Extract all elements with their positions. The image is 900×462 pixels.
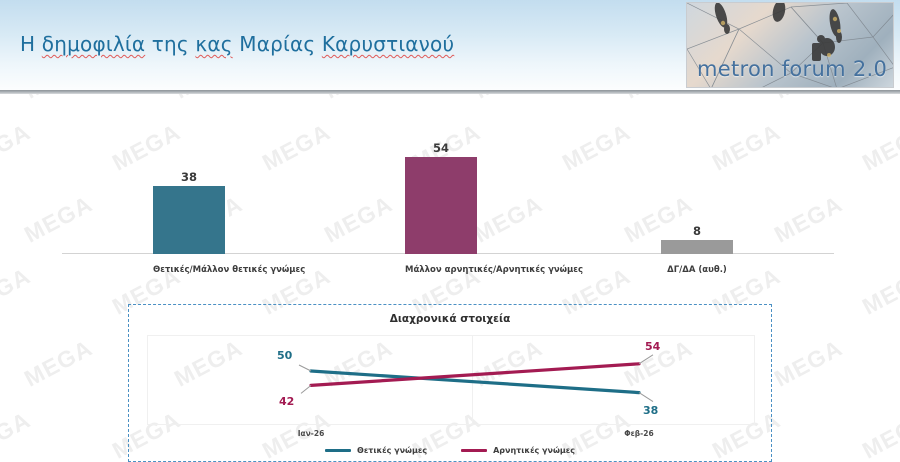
page-title-word-2: της <box>145 32 195 56</box>
watermark-text: MEGA <box>858 406 900 462</box>
legend-label-0: Θετικές γνώμες <box>357 446 427 455</box>
bar-value-label-0: 38 <box>153 170 225 184</box>
trend-xtick-1: Φεβ-26 <box>624 429 653 438</box>
bar-category-label-1: Μάλλον αρνητικές/Αρνητικές γνώμες <box>405 265 477 275</box>
header-divider <box>0 90 900 94</box>
watermark-text: MEGA <box>20 334 97 392</box>
legend-label-1: Αρνητικές γνώμες <box>493 446 575 455</box>
bar-group-2[interactable]: 8ΔΓ/ΔΑ (αυθ.) <box>661 240 733 254</box>
page-title-word-3: κας <box>195 32 232 56</box>
bar-group-0[interactable]: 38Θετικές/Μάλλον θετικές γνώμες <box>153 186 225 254</box>
trend-label-positive-start: 50 <box>277 349 292 362</box>
bar-2[interactable] <box>661 240 733 254</box>
watermark-text: MEGA <box>770 334 847 392</box>
bar-chart: 38Θετικές/Μάλλον θετικές γνώμες54Μάλλον … <box>0 96 900 281</box>
annotation-leader-2 <box>639 355 653 364</box>
watermark-text: MEGA <box>0 406 35 462</box>
bar-1[interactable] <box>405 157 477 254</box>
trend-label-negative-start: 42 <box>279 395 294 408</box>
bar-group-1[interactable]: 54Μάλλον αρνητικές/Αρνητικές γνώμες <box>405 157 477 254</box>
legend-item-0[interactable]: Θετικές γνώμες <box>325 446 427 455</box>
annotation-leader-3 <box>639 393 653 402</box>
trend-xtick-0: Ιαν-26 <box>298 429 325 438</box>
annotation-leader-1 <box>301 385 311 393</box>
trend-chart-legend: Θετικές γνώμεςΑρνητικές γνώμες <box>129 446 771 455</box>
logo-wordmark: metron forum 2.0 <box>697 57 887 81</box>
legend-item-1[interactable]: Αρνητικές γνώμες <box>461 446 575 455</box>
trend-plot-area: 50425438Ιαν-26Φεβ-26 <box>147 335 755 425</box>
trend-label-negative-end: 54 <box>645 340 660 353</box>
legend-swatch-1 <box>461 449 487 452</box>
trend-chart-panel: Διαχρονικά στοιχεία 50425438Ιαν-26Φεβ-26… <box>128 304 772 462</box>
page-title-word-1: δημοφιλία <box>42 32 145 56</box>
metron-forum-logo: metron forum 2.0 <box>686 2 894 88</box>
bar-value-label-1: 54 <box>405 141 477 155</box>
trend-lines <box>147 335 755 425</box>
page-title-word-5: Καρυστιανού <box>322 32 454 56</box>
page-title-word-4: Μαρίας <box>233 32 322 56</box>
trend-label-positive-end: 38 <box>643 404 658 417</box>
bar-value-label-2: 8 <box>661 224 733 238</box>
bar-category-label-2: ΔΓ/ΔΑ (αυθ.) <box>661 265 733 275</box>
annotation-leader-0 <box>299 365 311 371</box>
legend-swatch-0 <box>325 449 351 452</box>
bar-category-label-0: Θετικές/Μάλλον θετικές γνώμες <box>153 265 225 275</box>
page-title-word-0: Η <box>20 32 42 56</box>
page-title: Η δημοφιλία της κας Μαρίας Καρυστιανού <box>20 32 454 56</box>
trend-chart-title: Διαχρονικά στοιχεία <box>129 313 771 325</box>
bar-0[interactable] <box>153 186 225 254</box>
